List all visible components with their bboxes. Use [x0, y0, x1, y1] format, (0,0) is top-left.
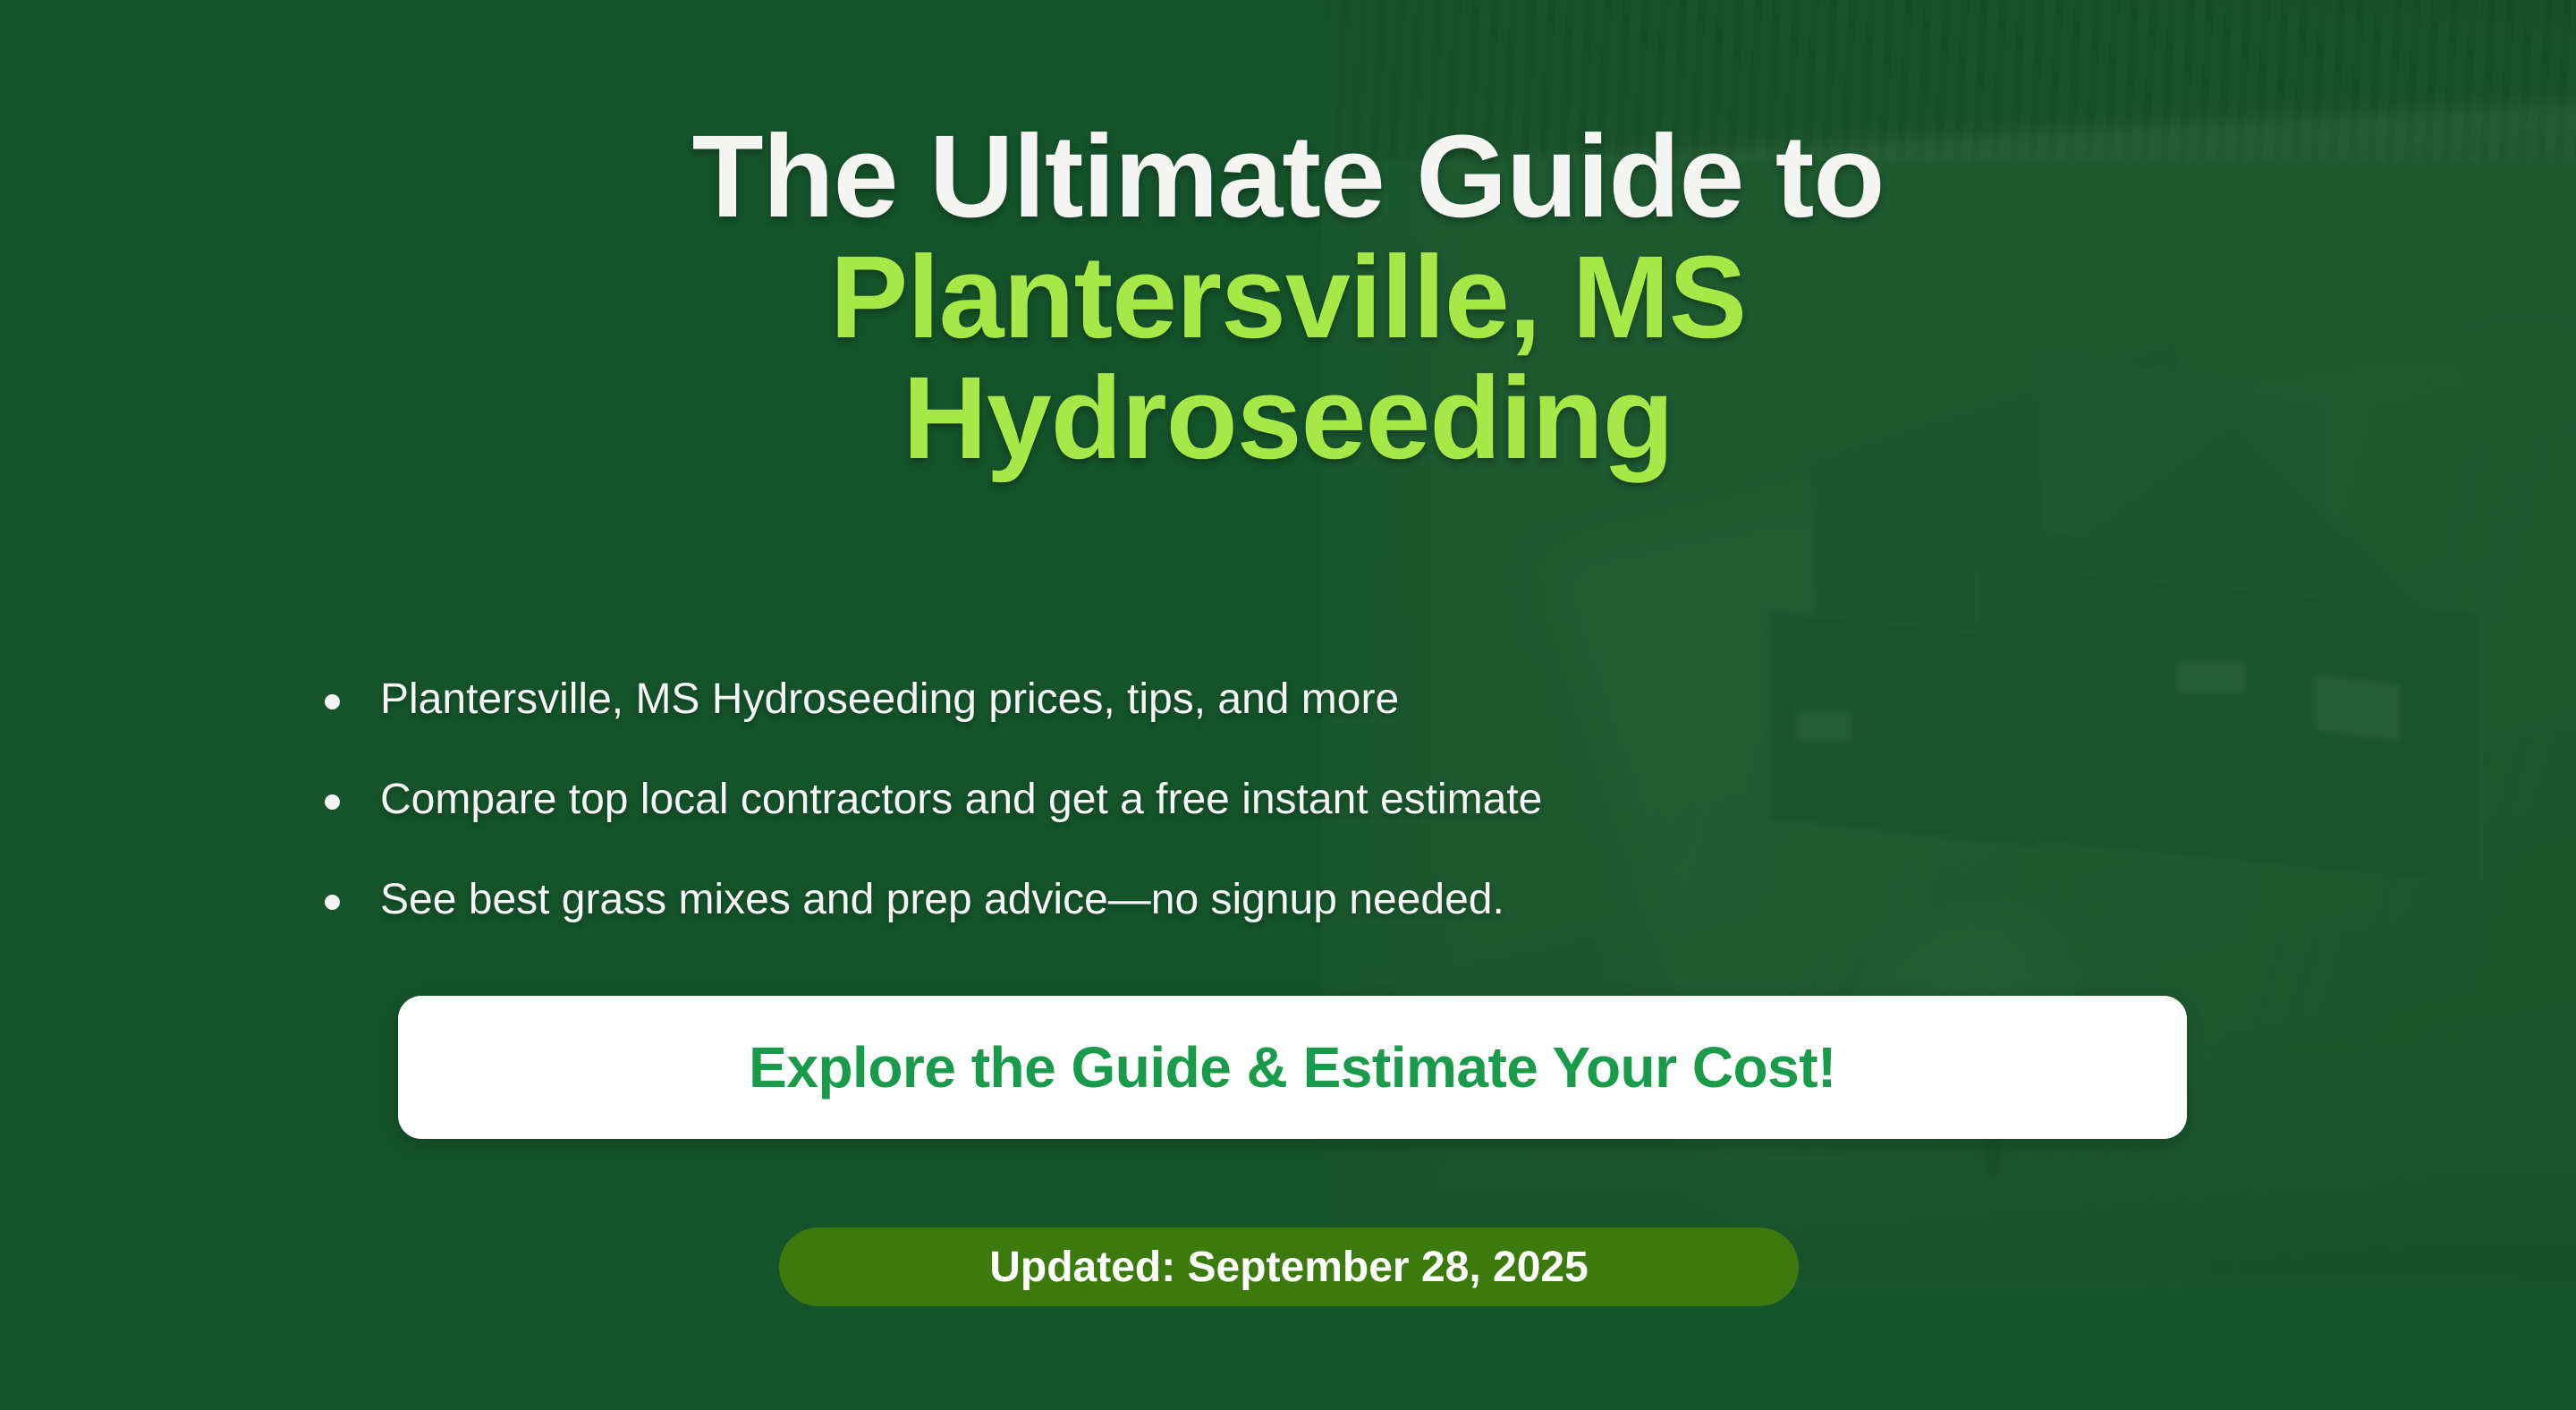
benefits-list: Plantersville, MS Hydroseeding prices, t… [313, 675, 2281, 975]
explore-guide-button-label: Explore the Guide & Estimate Your Cost! [749, 1034, 1836, 1100]
list-item-label: Plantersville, MS Hydroseeding prices, t… [380, 675, 1399, 723]
list-item: Plantersville, MS Hydroseeding prices, t… [313, 675, 2281, 724]
updated-date-label: Updated: September 28, 2025 [989, 1243, 1589, 1292]
list-item: Compare top local contractors and get a … [313, 776, 2281, 824]
list-item: See best grass mixes and prep advice—no … [313, 876, 2281, 924]
page-title: The Ultimate Guide to Plantersville, MS … [0, 116, 2576, 479]
updated-date-badge: Updated: September 28, 2025 [779, 1227, 1799, 1306]
page-title-line-2: Plantersville, MS [0, 237, 2576, 358]
hero-content: The Ultimate Guide to Plantersville, MS … [0, 0, 2576, 1410]
hero-banner: The Ultimate Guide to Plantersville, MS … [0, 0, 2576, 1410]
explore-guide-button[interactable]: Explore the Guide & Estimate Your Cost! [398, 996, 2187, 1139]
page-title-line-1: The Ultimate Guide to [0, 116, 2576, 237]
list-item-label: See best grass mixes and prep advice—no … [380, 876, 1504, 923]
list-item-label: Compare top local contractors and get a … [380, 776, 1542, 823]
page-title-line-3: Hydroseeding [0, 358, 2576, 479]
